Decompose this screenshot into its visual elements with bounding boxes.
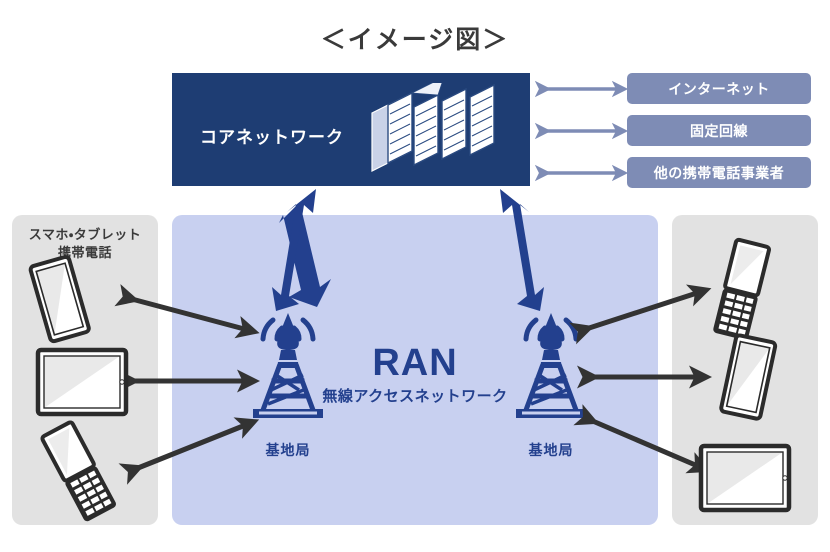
- base-station-label: 基地局: [496, 440, 606, 460]
- external-box-other-carriers[interactable]: 他の携帯電話事業者: [627, 157, 811, 188]
- core-network-box: コアネットワーク: [172, 73, 530, 186]
- cell-tower-icon: [233, 305, 343, 430]
- cell-tower-icon: [496, 305, 606, 430]
- devices-label-line2: 携帯電話: [12, 244, 158, 262]
- devices-label-line1: スマホ・タブレット: [12, 226, 158, 244]
- core-network-label: コアネットワーク: [200, 123, 344, 148]
- external-box-internet[interactable]: インターネット: [627, 73, 811, 104]
- external-box-label: 固定回線: [690, 121, 748, 141]
- left-devices-panel: [12, 215, 158, 525]
- devices-panel-label: スマホ・タブレット 携帯電話: [12, 226, 158, 261]
- server-rack-icon: [370, 83, 500, 178]
- external-box-label: 他の携帯電話事業者: [654, 163, 785, 183]
- page-title: ＜イメージ図＞: [0, 20, 830, 56]
- right-devices-panel: [672, 215, 818, 525]
- external-box-label: インターネット: [668, 79, 770, 99]
- diagram-canvas: ＜イメージ図＞ スマホ・タブレット 携帯電話 コアネットワーク: [0, 0, 830, 552]
- external-connector-arrows: [543, 89, 620, 173]
- external-box-fixed-line[interactable]: 固定回線: [627, 115, 811, 146]
- base-station-label: 基地局: [233, 440, 343, 460]
